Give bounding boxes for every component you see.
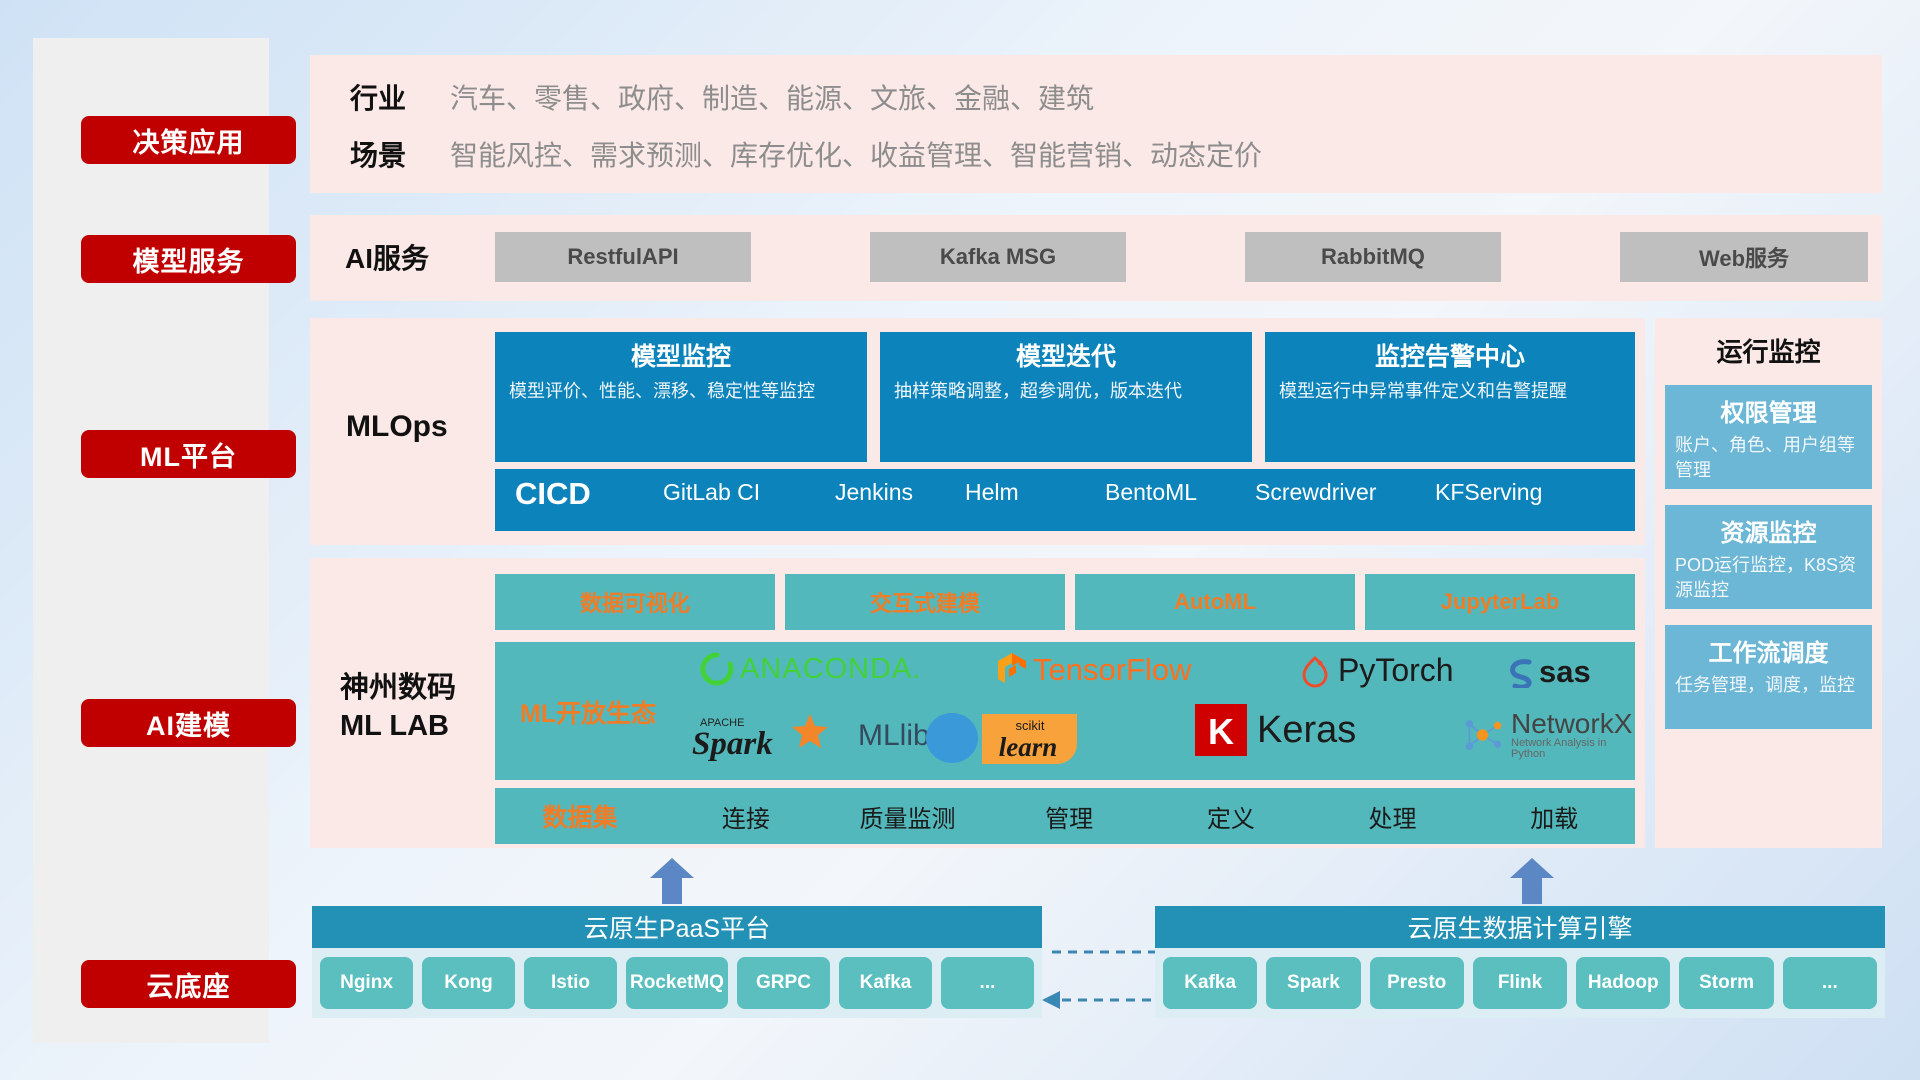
card-title: 监控告警中心: [1279, 342, 1621, 373]
rail-item-cloud-base[interactable]: 云底座: [81, 960, 296, 1008]
ml-open-ecosystem-panel: ML开放生态 ANACONDA. TensorFlow: [495, 642, 1635, 780]
sas-logo: sas: [1505, 654, 1591, 690]
dataset-item-define[interactable]: 定义: [1150, 799, 1312, 834]
rail-item-decision-app[interactable]: 决策应用: [81, 116, 296, 164]
service-chip-rabbitmq[interactable]: RabbitMQ: [1245, 232, 1501, 282]
chip-label: 交互式建模: [870, 586, 980, 618]
engine-chip-storm[interactable]: Storm: [1679, 957, 1773, 1009]
cloud-native-paas-block: 云原生PaaS平台 Nginx Kong Istio RocketMQ GRPC…: [312, 906, 1042, 1018]
chip-label: Web服务: [1699, 241, 1789, 273]
data-engine-up-arrow-icon: [1510, 858, 1554, 904]
service-chip-kafka-msg[interactable]: Kafka MSG: [870, 232, 1126, 282]
tensorflow-logo: TensorFlow: [995, 652, 1192, 688]
mlops-card-model-iteration[interactable]: 模型迭代 抽样策略调整，超参调优，版本迭代: [880, 332, 1252, 462]
paas-chip-kafka[interactable]: Kafka: [839, 957, 932, 1009]
scikit-learn-logo: scikit learn: [920, 708, 1110, 771]
keras-wordmark: Keras: [1257, 709, 1356, 752]
chip-label: AutoML: [1174, 589, 1256, 615]
cicd-item-kfserving[interactable]: KFServing: [1435, 479, 1545, 505]
pytorch-flame-icon: [1300, 654, 1330, 688]
engine-chip-flink[interactable]: Flink: [1473, 957, 1567, 1009]
ai-service-label: AI服务: [345, 237, 429, 277]
pytorch-wordmark: PyTorch: [1338, 652, 1454, 689]
dataset-item-quality[interactable]: 质量监测: [827, 799, 989, 834]
scene-value: 智能风控、需求预测、库存优化、收益管理、智能营销、动态定价: [450, 134, 1262, 174]
monitor-card-resource[interactable]: 资源监控 POD运行监控，K8S资源监控: [1665, 505, 1872, 609]
modeling-chip-interactive-modeling[interactable]: 交互式建模: [785, 574, 1065, 630]
networkx-logo: NetworkX Network Analysis in Python: [1460, 710, 1635, 760]
cicd-item-gitlab-ci[interactable]: GitLab CI: [663, 479, 773, 505]
paas-title: 云原生PaaS平台: [312, 906, 1042, 948]
rail-label: AI建模: [146, 704, 231, 743]
card-desc: 模型评价、性能、漂移、稳定性等监控: [509, 379, 853, 405]
service-chip-web-service[interactable]: Web服务: [1620, 232, 1868, 282]
spark-mark-icon: APACHE Spark: [690, 708, 850, 764]
tensorflow-mark-icon: [995, 652, 1029, 688]
mlops-card-model-monitoring[interactable]: 模型监控 模型评价、性能、漂移、稳定性等监控: [495, 332, 867, 462]
card-desc: POD运行监控，K8S资源监控: [1675, 553, 1862, 603]
cicd-label: CICD: [515, 476, 591, 512]
svg-text:K: K: [1208, 711, 1234, 752]
dataset-bar: 数据集 连接 质量监测 管理 定义 处理 加载: [495, 788, 1635, 844]
monitor-card-workflow[interactable]: 工作流调度 任务管理，调度，监控: [1665, 625, 1872, 729]
chip-label: 数据可视化: [580, 586, 690, 618]
card-title: 模型监控: [509, 342, 853, 373]
cicd-item-screwdriver[interactable]: Screwdriver: [1255, 479, 1365, 505]
dataset-item-load[interactable]: 加载: [1473, 799, 1635, 834]
engine-chip-spark[interactable]: Spark: [1266, 957, 1360, 1009]
mlops-band: MLOps 模型监控 模型评价、性能、漂移、稳定性等监控 模型迭代 抽样策略调整…: [310, 318, 1645, 545]
svg-text:learn: learn: [999, 732, 1058, 762]
cicd-item-bentoml[interactable]: BentoML: [1105, 479, 1215, 505]
architecture-diagram: 决策应用 模型服务 ML平台 AI建模 云底座 行业 汽车、零售、政府、制造、能…: [0, 0, 1920, 1080]
ai-modeling-band: 神州数码 ML LAB 数据可视化 交互式建模 AutoML JupyterLa…: [310, 558, 1645, 848]
card-title: 权限管理: [1675, 393, 1862, 428]
engine-chip-kafka[interactable]: Kafka: [1163, 957, 1257, 1009]
monitor-card-permission[interactable]: 权限管理 账户、角色、用户组等管理: [1665, 385, 1872, 489]
engine-chip-more[interactable]: ...: [1783, 957, 1877, 1009]
rail-label: 模型服务: [133, 240, 245, 279]
dataset-item-manage[interactable]: 管理: [988, 799, 1150, 834]
scikit-learn-mark-icon: scikit learn: [920, 708, 1110, 766]
spark-mllib-logo: APACHE Spark MLlib: [690, 708, 930, 764]
rail-label: ML平台: [140, 435, 237, 474]
ml-lab-label: 神州数码 ML LAB: [340, 670, 456, 745]
sas-wordmark: sas: [1539, 654, 1591, 690]
chip-label: RestfulAPI: [567, 244, 678, 270]
card-title: 资源监控: [1675, 513, 1862, 548]
cicd-item-helm[interactable]: Helm: [965, 479, 1075, 505]
service-chip-restfulapi[interactable]: RestfulAPI: [495, 232, 751, 282]
rail-item-model-service[interactable]: 模型服务: [81, 235, 296, 283]
industry-value: 汽车、零售、政府、制造、能源、文旅、金融、建筑: [450, 77, 1094, 117]
card-desc: 模型运行中异常事件定义和告警提醒: [1279, 379, 1621, 405]
rail-item-ml-platform[interactable]: ML平台: [81, 430, 296, 478]
anaconda-logo: ANACONDA.: [700, 652, 921, 686]
engine-chip-presto[interactable]: Presto: [1370, 957, 1464, 1009]
networkx-tagline: Network Analysis in Python: [1511, 738, 1635, 760]
ai-service-band: AI服务 RestfulAPI Kafka MSG RabbitMQ Web服务: [310, 215, 1882, 301]
industry-label: 行业: [350, 77, 406, 117]
paas-chip-kong[interactable]: Kong: [422, 957, 515, 1009]
data-engine-chip-row: Kafka Spark Presto Flink Hadoop Storm ..…: [1155, 948, 1885, 1018]
card-title: 模型迭代: [894, 342, 1238, 373]
mlops-label: MLOps: [346, 410, 448, 444]
modeling-chip-data-visualization[interactable]: 数据可视化: [495, 574, 775, 630]
anaconda-wordmark: ANACONDA.: [740, 653, 921, 686]
mllib-wordmark: MLlib: [858, 719, 930, 753]
card-desc: 账户、角色、用户组等管理: [1675, 433, 1862, 483]
svg-text:Spark: Spark: [692, 726, 773, 762]
card-desc: 任务管理，调度，监控: [1675, 673, 1862, 698]
chip-label: JupyterLab: [1441, 589, 1560, 615]
dataset-label: 数据集: [495, 798, 665, 834]
rail-label: 云底座: [147, 965, 231, 1004]
run-monitor-panel: 运行监控 权限管理 账户、角色、用户组等管理 资源监控 POD运行监控，K8S资…: [1655, 318, 1882, 848]
svg-text:scikit: scikit: [1016, 718, 1045, 733]
data-engine-title: 云原生数据计算引擎: [1155, 906, 1885, 948]
dataset-item-connect[interactable]: 连接: [665, 799, 827, 834]
chip-label: RabbitMQ: [1321, 244, 1425, 270]
engine-chip-hadoop[interactable]: Hadoop: [1576, 957, 1670, 1009]
paas-up-arrow-icon: [650, 858, 694, 904]
card-title: 工作流调度: [1675, 633, 1862, 668]
chip-label: Kafka MSG: [940, 244, 1056, 270]
cloud-native-data-engine-block: 云原生数据计算引擎 Kafka Spark Presto Flink Hadoo…: [1155, 906, 1885, 1018]
paas-chip-rocketmq[interactable]: RocketMQ: [626, 957, 728, 1009]
scene-label: 场景: [350, 134, 406, 174]
dataset-item-process[interactable]: 处理: [1312, 799, 1474, 834]
mlops-card-alert-center[interactable]: 监控告警中心 模型运行中异常事件定义和告警提醒: [1265, 332, 1635, 462]
cicd-bar: CICD GitLab CI Jenkins Helm BentoML Scre…: [495, 469, 1635, 531]
left-rail: 决策应用 模型服务 ML平台 AI建模 云底座: [33, 38, 269, 1043]
paas-chip-grpc[interactable]: GRPC: [737, 957, 830, 1009]
cicd-item-jenkins[interactable]: Jenkins: [835, 479, 945, 505]
modeling-chip-automl[interactable]: AutoML: [1075, 574, 1355, 630]
run-monitor-title: 运行监控: [1655, 332, 1882, 369]
modeling-chip-jupyterlab[interactable]: JupyterLab: [1365, 574, 1635, 630]
paas-chip-more[interactable]: ...: [941, 957, 1034, 1009]
tensorflow-wordmark: TensorFlow: [1033, 652, 1192, 688]
networkx-wordmark: NetworkX: [1511, 710, 1635, 738]
rail-label: 决策应用: [133, 121, 245, 160]
keras-logo: K Keras: [1195, 704, 1356, 756]
paas-chip-istio[interactable]: Istio: [524, 957, 617, 1009]
sas-mark-icon: [1505, 656, 1537, 688]
card-desc: 抽样策略调整，超参调优，版本迭代: [894, 379, 1238, 405]
networkx-mark-icon: [1460, 713, 1505, 757]
anaconda-mark-icon: [700, 652, 734, 686]
pytorch-logo: PyTorch: [1300, 652, 1454, 689]
paas-chip-nginx[interactable]: Nginx: [320, 957, 413, 1009]
eco-label: ML开放生态: [520, 694, 656, 730]
keras-mark-icon: K: [1195, 704, 1247, 756]
rail-item-ai-modeling[interactable]: AI建模: [81, 699, 296, 747]
paas-chip-row: Nginx Kong Istio RocketMQ GRPC Kafka ...: [312, 948, 1042, 1018]
industry-scene-band: 行业 汽车、零售、政府、制造、能源、文旅、金融、建筑 场景 智能风控、需求预测、…: [310, 55, 1882, 193]
